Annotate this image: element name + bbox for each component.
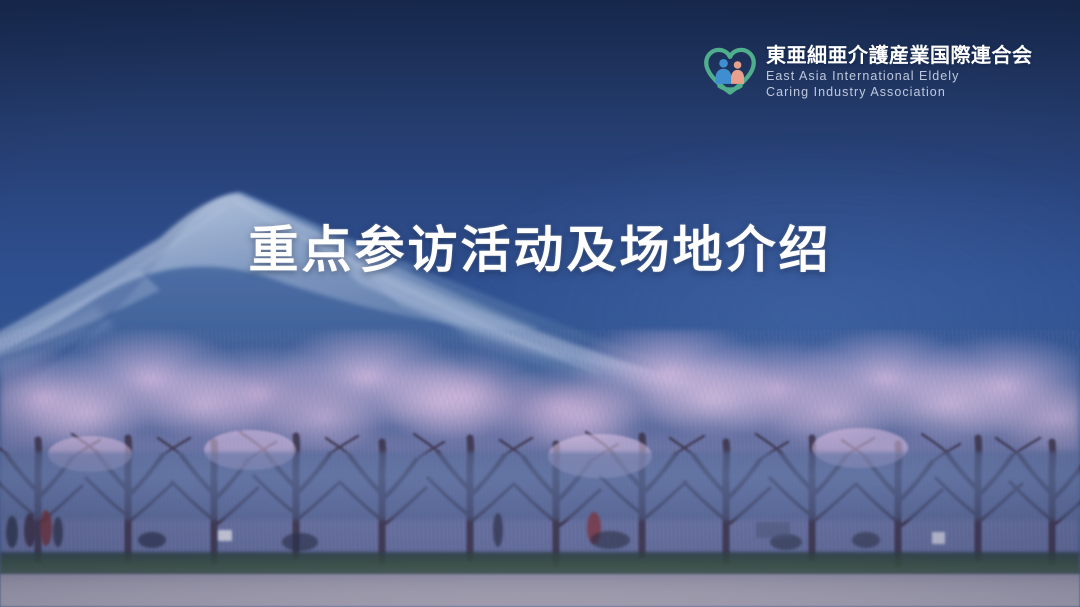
organization-logo: 東亜細亜介護産業国際連合会 East Asia International El… xyxy=(703,44,1033,100)
slide-title: 重点参访活动及场地介绍 xyxy=(0,222,1080,280)
logo-name-en: East Asia International Eldely Caring In… xyxy=(766,69,1033,100)
presentation-slide: 重点参访活动及场地介绍 東亜細亜介護産業国際連合会 East Asia Inte… xyxy=(0,0,1080,607)
logo-name-en-line2: Caring Industry Association xyxy=(766,85,1033,100)
people-silhouettes xyxy=(0,470,1080,560)
logo-text-block: 東亜細亜介護産業国際連合会 East Asia International El… xyxy=(766,44,1033,100)
heart-caregiver-logo-icon xyxy=(703,45,757,99)
logo-name-en-line1: East Asia International Eldely xyxy=(766,69,1033,84)
foreground-path xyxy=(0,574,1080,607)
logo-name-cn: 東亜細亜介護産業国際連合会 xyxy=(766,45,1033,67)
